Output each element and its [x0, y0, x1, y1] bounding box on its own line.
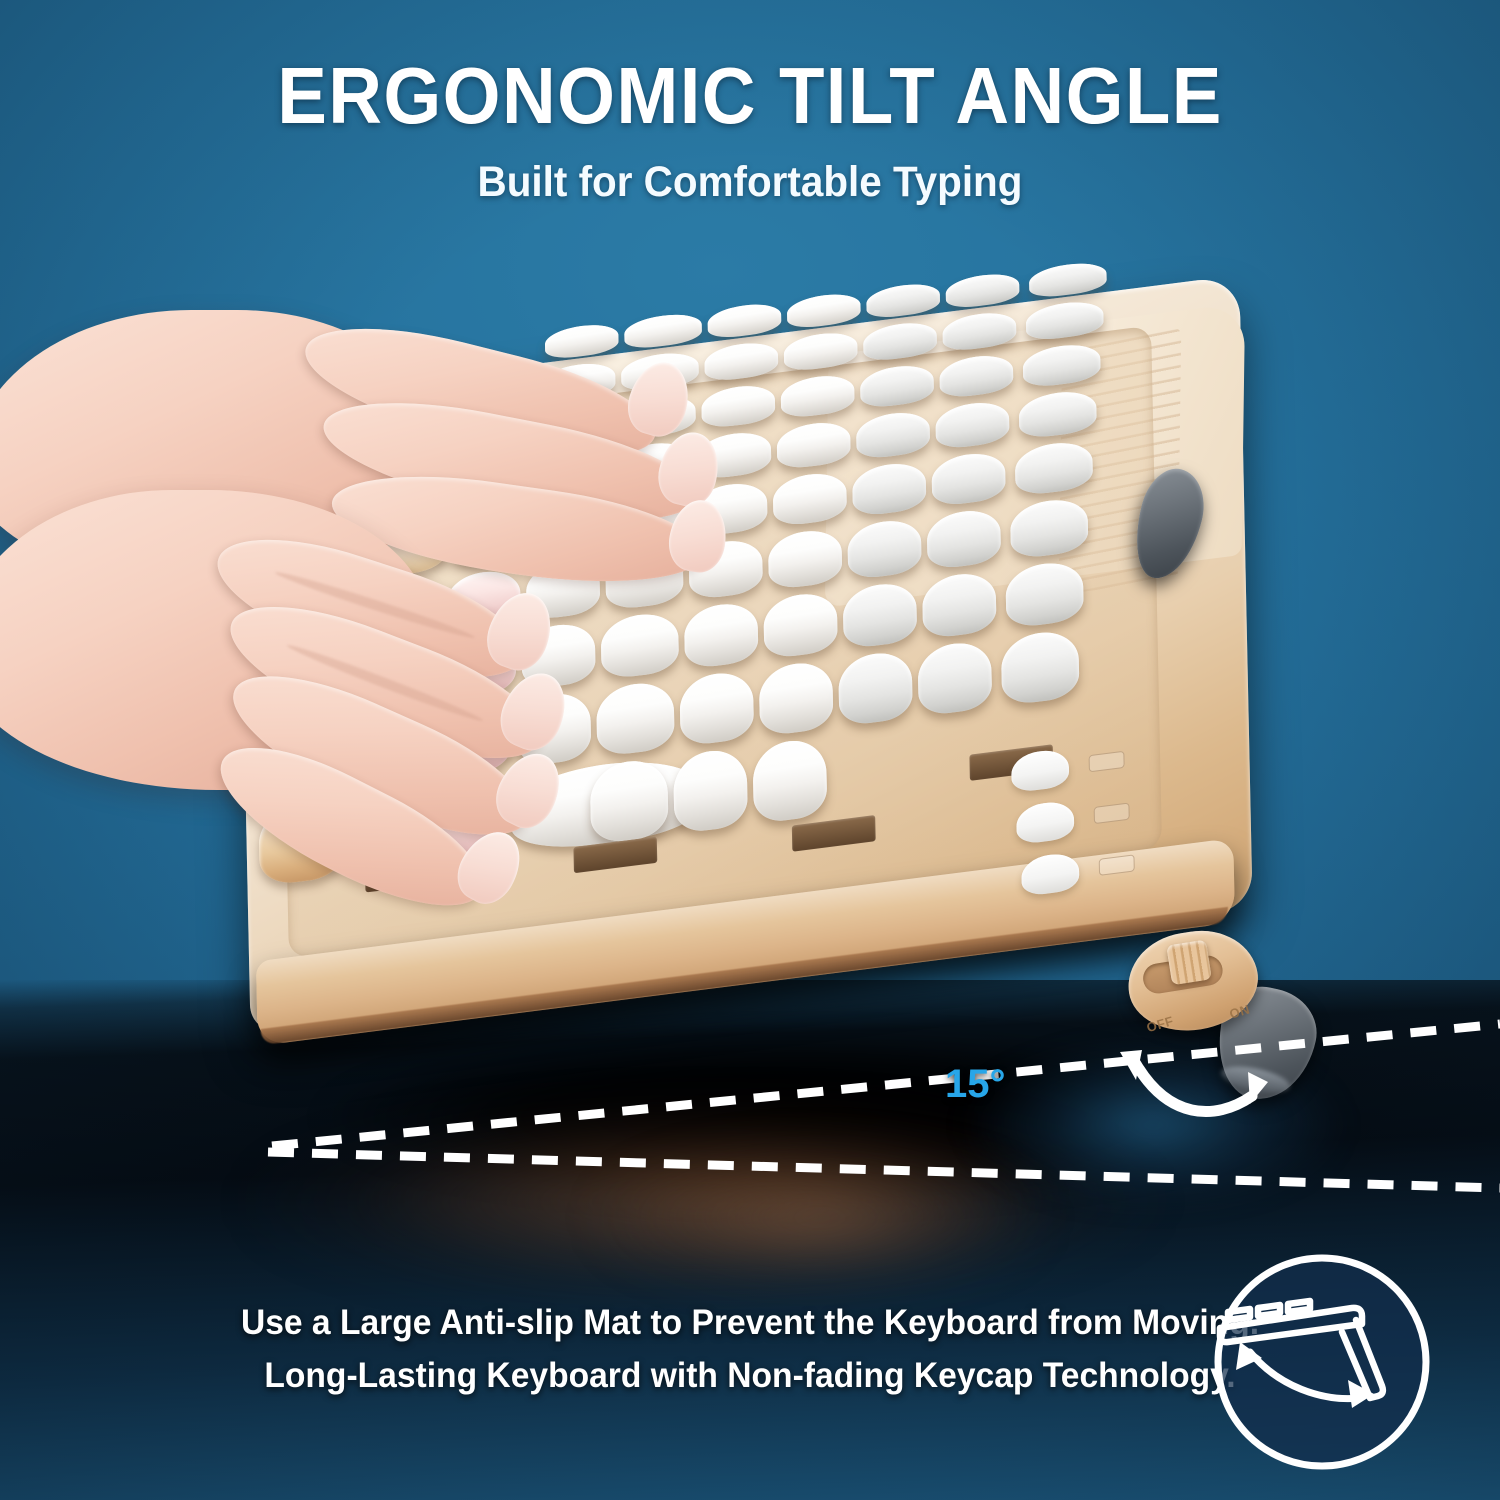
- keycap[interactable]: [866, 281, 940, 320]
- keycap[interactable]: [927, 507, 1002, 571]
- keycap[interactable]: [856, 409, 930, 460]
- keycap[interactable]: [946, 271, 1020, 310]
- keycap[interactable]: [1005, 559, 1084, 629]
- keycap[interactable]: [1001, 628, 1080, 706]
- blue-floor-glow: [960, 1030, 1390, 1220]
- keycap[interactable]: [939, 352, 1013, 399]
- keycap[interactable]: [847, 517, 922, 581]
- keycap[interactable]: [852, 460, 926, 518]
- keycap[interactable]: [1019, 388, 1097, 440]
- keycap[interactable]: [1029, 260, 1107, 300]
- power-switch-knob[interactable]: [1166, 940, 1212, 986]
- keycap[interactable]: [922, 570, 997, 640]
- headline-block: ERGONOMIC TILT ANGLE Built for Comfortab…: [0, 0, 1500, 207]
- keycap[interactable]: [843, 580, 918, 650]
- keycap[interactable]: [860, 362, 934, 409]
- power-switch[interactable]: OFF ON: [1121, 922, 1265, 1039]
- keycap[interactable]: [1023, 341, 1101, 389]
- keycap[interactable]: [935, 399, 1009, 450]
- keycap[interactable]: [942, 309, 1016, 352]
- page-subtitle: Built for Comfortable Typing: [45, 158, 1455, 207]
- tilt-kickstand-badge: [1206, 1246, 1438, 1478]
- keycap[interactable]: [1015, 439, 1093, 497]
- keycap[interactable]: [1026, 298, 1104, 342]
- marketing-image-canvas: ERGONOMIC TILT ANGLE Built for Comfortab…: [0, 0, 1500, 1500]
- keycap[interactable]: [917, 639, 992, 717]
- keycap[interactable]: [1010, 496, 1089, 560]
- keycap[interactable]: [931, 450, 1005, 508]
- keycap[interactable]: [863, 319, 937, 362]
- typing-hands: [0, 300, 850, 940]
- badge-svg: [1206, 1246, 1438, 1478]
- page-title: ERGONOMIC TILT ANGLE: [53, 56, 1448, 136]
